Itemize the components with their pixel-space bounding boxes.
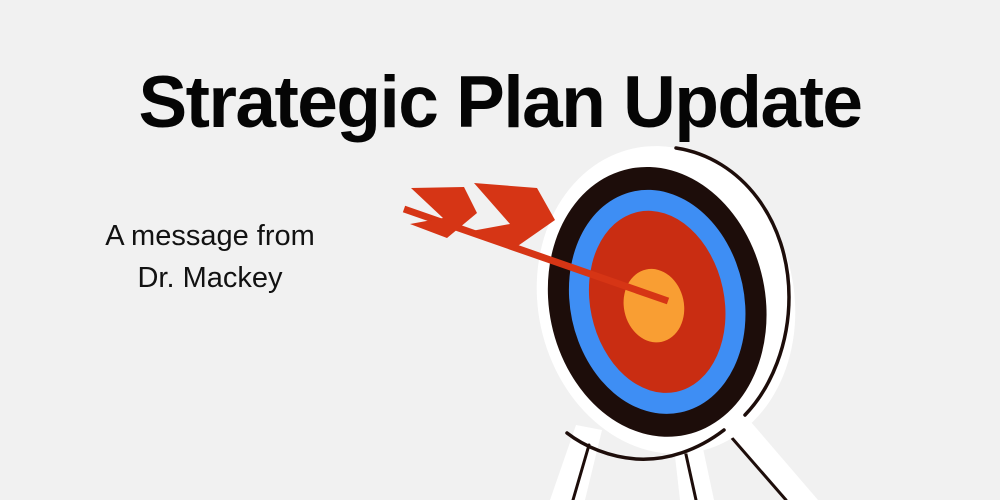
arrow-fletching-front: [466, 183, 555, 250]
subtitle-block: A message from Dr. Mackey: [45, 215, 375, 299]
subtitle-line-1: A message from: [45, 215, 375, 257]
subtitle-line-2: Dr. Mackey: [45, 257, 375, 299]
archery-target-illustration: [380, 125, 850, 500]
slide-canvas: Strategic Plan Update A message from Dr.…: [0, 0, 1000, 500]
